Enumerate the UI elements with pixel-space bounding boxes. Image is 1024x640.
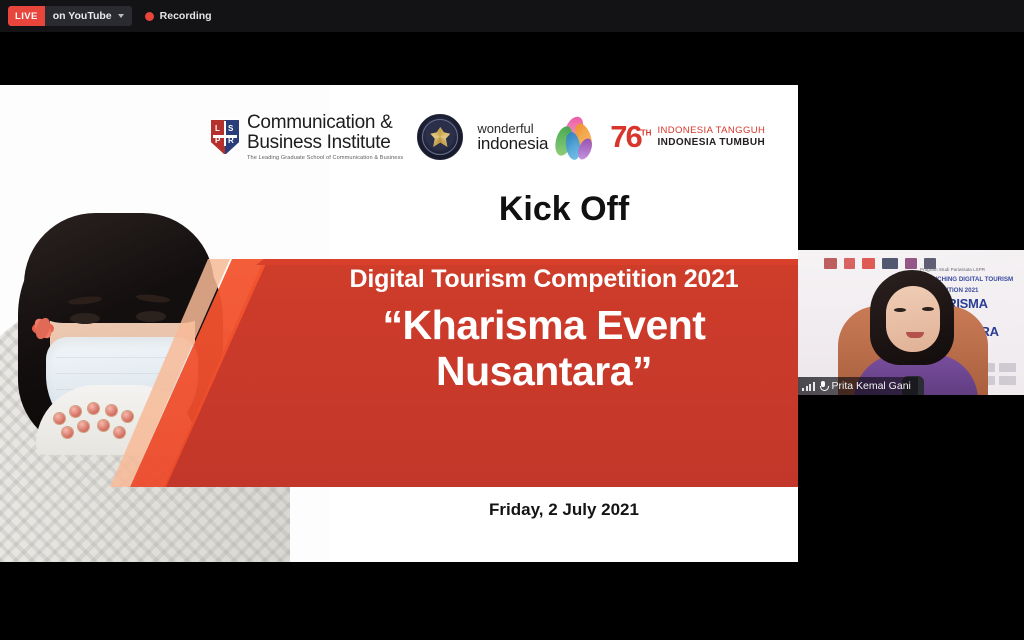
slide-banner-title-line1: “Kharisma Event [290, 303, 798, 349]
lspr-line1: Communication & [247, 113, 403, 133]
meeting-window: LIVE on YouTube Recording [0, 0, 1024, 640]
shield-letter-s: S [228, 124, 233, 133]
microphone-icon[interactable] [820, 381, 827, 392]
lspr-logo: L S P R Communication & Business Institu… [210, 113, 403, 162]
slide-banner-title-line2: Nusantara” [290, 349, 798, 395]
slide-logo-row: L S P R Communication & Business Institu… [210, 102, 790, 172]
live-badge: LIVE [8, 6, 45, 26]
participant-thumbnail[interactable]: Program Studi Pariwisata LSPR LAUNCHING … [798, 250, 1024, 395]
anniversary-line2: INDONESIA TUMBUH [657, 137, 765, 149]
live-stream-control[interactable]: LIVE on YouTube [8, 6, 132, 26]
slide-banner-subtitle: Digital Tourism Competition 2021 [290, 265, 798, 294]
slide-kickoff-title: Kick Off [330, 190, 798, 229]
backdrop-program-line: Program Studi Pariwisata LSPR [920, 268, 1020, 273]
participant-name-label: Prita Kemal Gani [832, 380, 911, 392]
shield-letter-p: P [215, 136, 220, 145]
shield-letter-l: L [215, 124, 220, 133]
lspr-line2: Business Institute [247, 133, 403, 153]
anniversary-line1: INDONESIA TANGGUH [657, 126, 765, 137]
video-stage: L S P R Communication & Business Institu… [0, 32, 1024, 640]
anniversary-number: 76TH [610, 119, 651, 155]
slide-date: Friday, 2 July 2021 [330, 500, 798, 520]
kemenparekraf-seal-icon [417, 114, 463, 160]
lspr-shield-icon: L S P R [210, 119, 240, 155]
shield-letter-r: R [228, 136, 234, 145]
stream-status-bar: LIVE on YouTube Recording [0, 0, 1024, 32]
wonderful-indonesia-bird-icon [552, 114, 596, 160]
signal-strength-icon [802, 382, 815, 391]
indonesia-76th-logo: 76TH INDONESIA TANGGUH INDONESIA TUMBUH [610, 119, 765, 155]
participant-face [886, 286, 940, 352]
shared-screen-slide[interactable]: L S P R Communication & Business Institu… [0, 85, 798, 562]
anniversary-superscript: TH [641, 129, 652, 138]
participant-name-bar: Prita Kemal Gani [798, 377, 918, 395]
slide-banner-text: Digital Tourism Competition 2021 “Kharis… [290, 265, 798, 395]
recording-indicator[interactable]: Recording [145, 10, 212, 22]
wonderful-indonesia-logo: wonderful indonesia [477, 114, 596, 160]
lspr-tagline: The Leading Graduate School of Communica… [247, 156, 403, 162]
recording-label: Recording [160, 10, 212, 22]
recording-dot-icon [145, 12, 154, 21]
chevron-down-icon[interactable] [118, 14, 124, 18]
live-destination-label: on YouTube [45, 6, 118, 26]
wonderful-indonesia-line2: indonesia [477, 135, 548, 152]
